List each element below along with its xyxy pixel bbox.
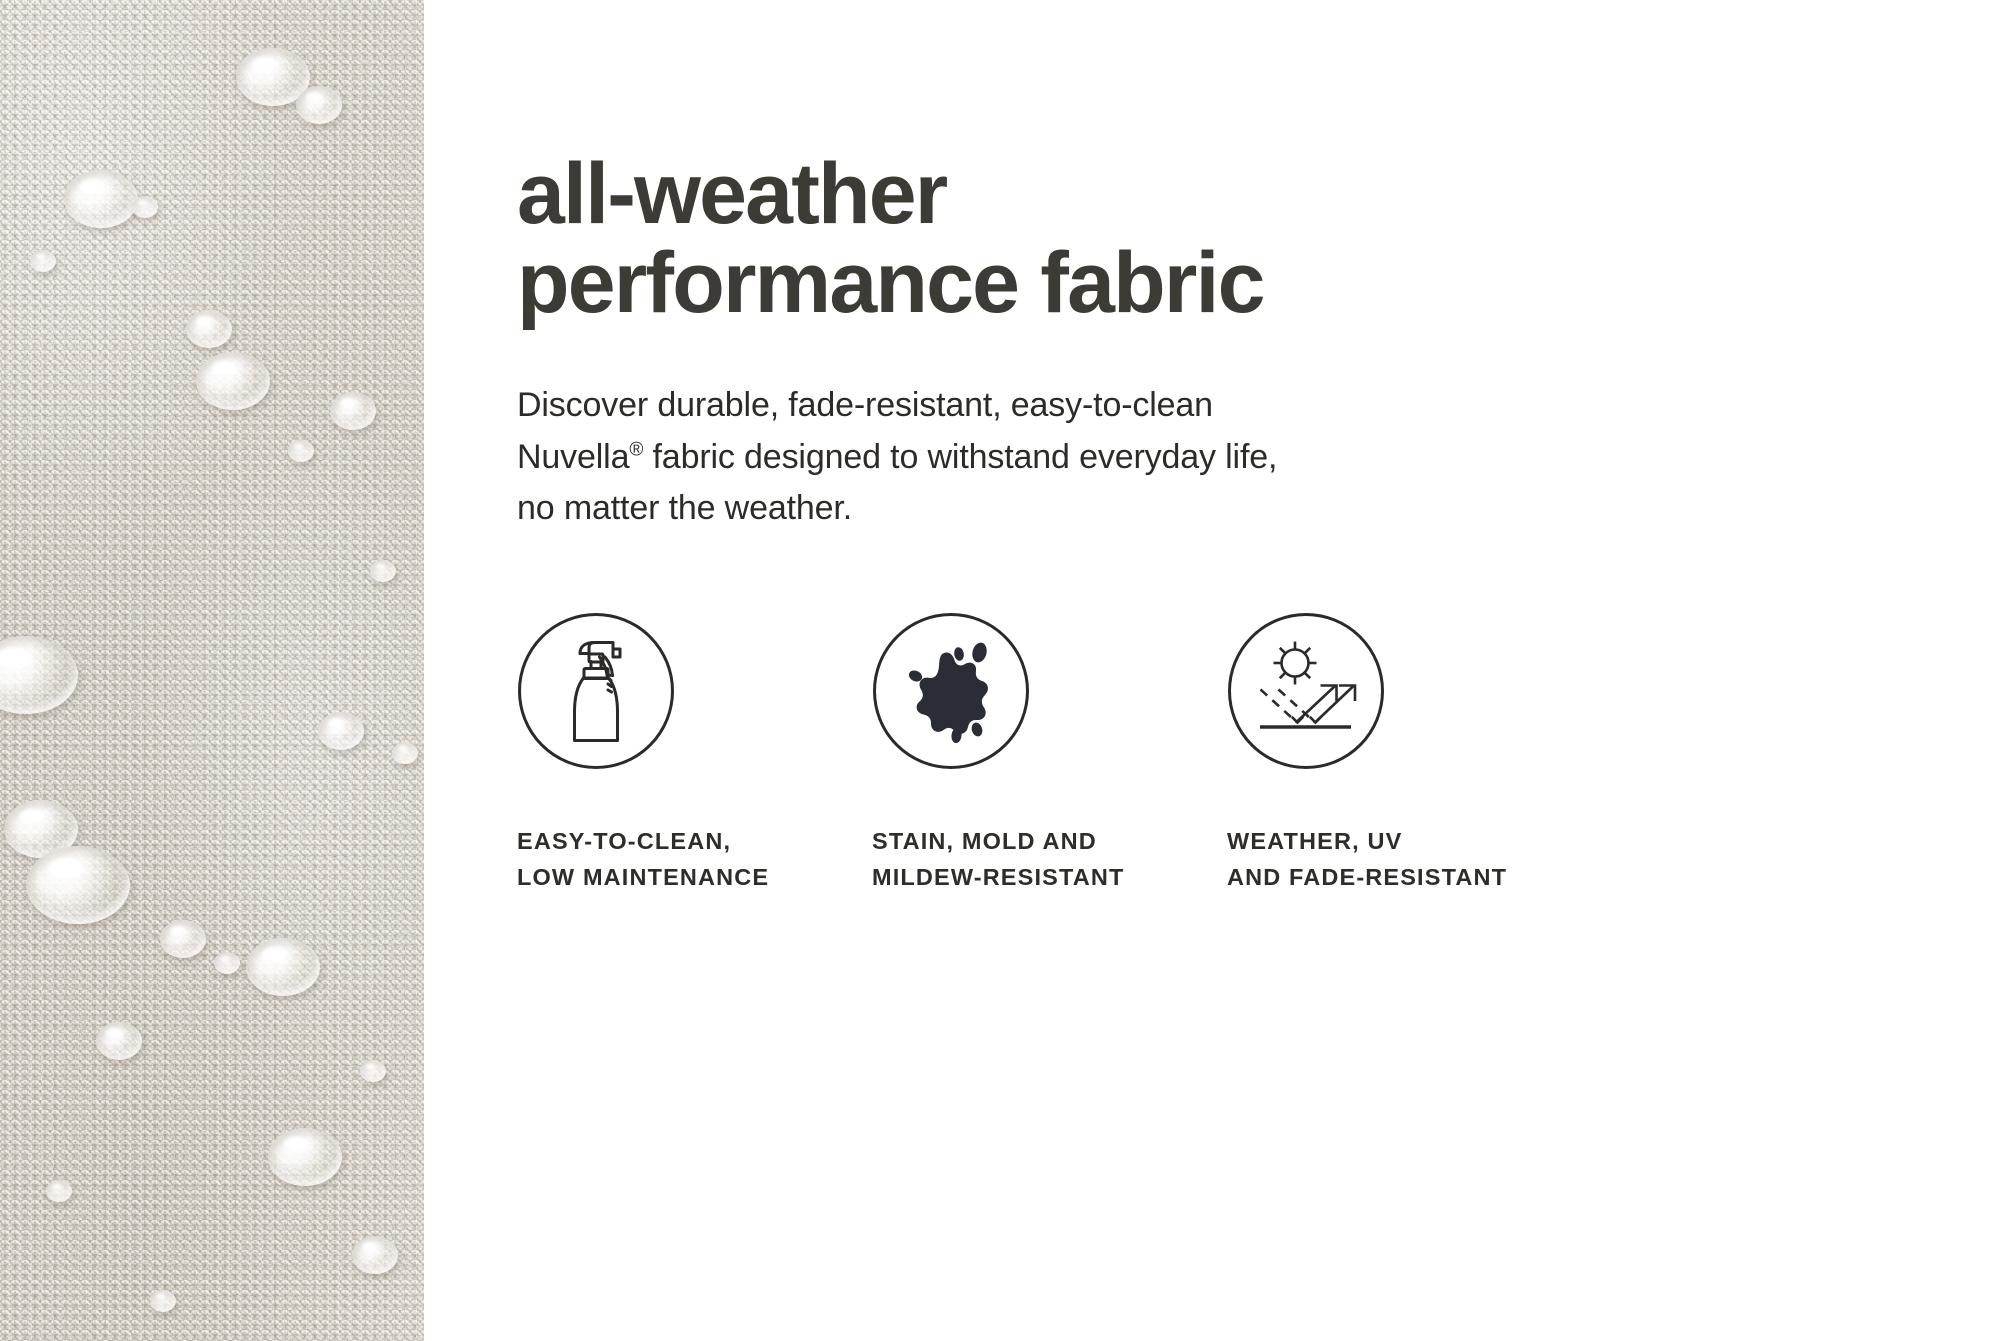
feature-item-stain-resistant: STAIN, MOLD AND MILDEW-RESISTANT	[872, 612, 1227, 895]
page-title: all-weather performance fabric	[517, 150, 1787, 329]
water-droplet	[26, 846, 130, 924]
water-droplet	[296, 86, 342, 124]
water-droplet	[64, 170, 138, 228]
water-droplet	[214, 952, 240, 974]
headline-line-2: performance fabric	[517, 239, 1787, 328]
sun-uv-reflect-icon	[1227, 612, 1385, 770]
feature-caption-line-1: WEATHER, UV	[1227, 824, 1582, 860]
water-droplet	[318, 712, 364, 750]
water-droplet	[96, 1022, 142, 1060]
water-droplet	[150, 1290, 176, 1312]
water-droplet	[160, 920, 206, 958]
brand-name-nuvella: Nuvella	[517, 438, 629, 476]
water-droplet	[392, 742, 418, 764]
content-pane: all-weather performance fabric Discover …	[424, 0, 2010, 1341]
stain-splat-icon	[872, 612, 1030, 770]
water-droplet	[132, 196, 158, 218]
water-droplet	[288, 440, 314, 462]
water-droplet	[352, 1236, 398, 1274]
subcopy-line-2-rest: fabric designed to withstand everyday li…	[643, 438, 1277, 476]
all-weather-fabric-banner: all-weather performance fabric Discover …	[0, 0, 2010, 1341]
water-droplet	[360, 1060, 386, 1082]
water-droplet	[196, 352, 270, 410]
water-droplet	[186, 310, 232, 348]
feature-item-uv-fade-resistant: WEATHER, UV AND FADE-RESISTANT	[1227, 612, 1582, 895]
subcopy-line-3: no matter the weather.	[517, 489, 852, 527]
subcopy-line-1: Discover durable, fade-resistant, easy-t…	[517, 386, 1213, 424]
feature-caption-line-1: STAIN, MOLD AND	[872, 824, 1227, 860]
feature-caption: WEATHER, UV AND FADE-RESISTANT	[1227, 824, 1582, 895]
registered-trademark-icon: ®	[629, 439, 643, 460]
water-droplet	[330, 392, 376, 430]
water-droplet	[370, 560, 396, 582]
water-droplet	[268, 1128, 342, 1186]
feature-list: EASY-TO-CLEAN, LOW MAINTENANCE	[517, 612, 1957, 895]
water-droplet	[46, 1180, 72, 1202]
water-droplet	[30, 250, 56, 272]
spray-bottle-icon	[517, 612, 675, 770]
feature-item-easy-to-clean: EASY-TO-CLEAN, LOW MAINTENANCE	[517, 612, 872, 895]
feature-caption-line-2: AND FADE-RESISTANT	[1227, 860, 1582, 896]
headline-line-1: all-weather	[517, 150, 1787, 239]
feature-caption: STAIN, MOLD AND MILDEW-RESISTANT	[872, 824, 1227, 895]
feature-caption: EASY-TO-CLEAN, LOW MAINTENANCE	[517, 824, 872, 895]
subcopy-paragraph: Discover durable, fade-resistant, easy-t…	[517, 380, 1517, 535]
water-droplet	[246, 938, 320, 996]
feature-caption-line-2: MILDEW-RESISTANT	[872, 860, 1227, 896]
feature-caption-line-1: EASY-TO-CLEAN,	[517, 824, 872, 860]
water-beading-fabric-photo	[0, 0, 424, 1341]
feature-caption-line-2: LOW MAINTENANCE	[517, 860, 872, 896]
